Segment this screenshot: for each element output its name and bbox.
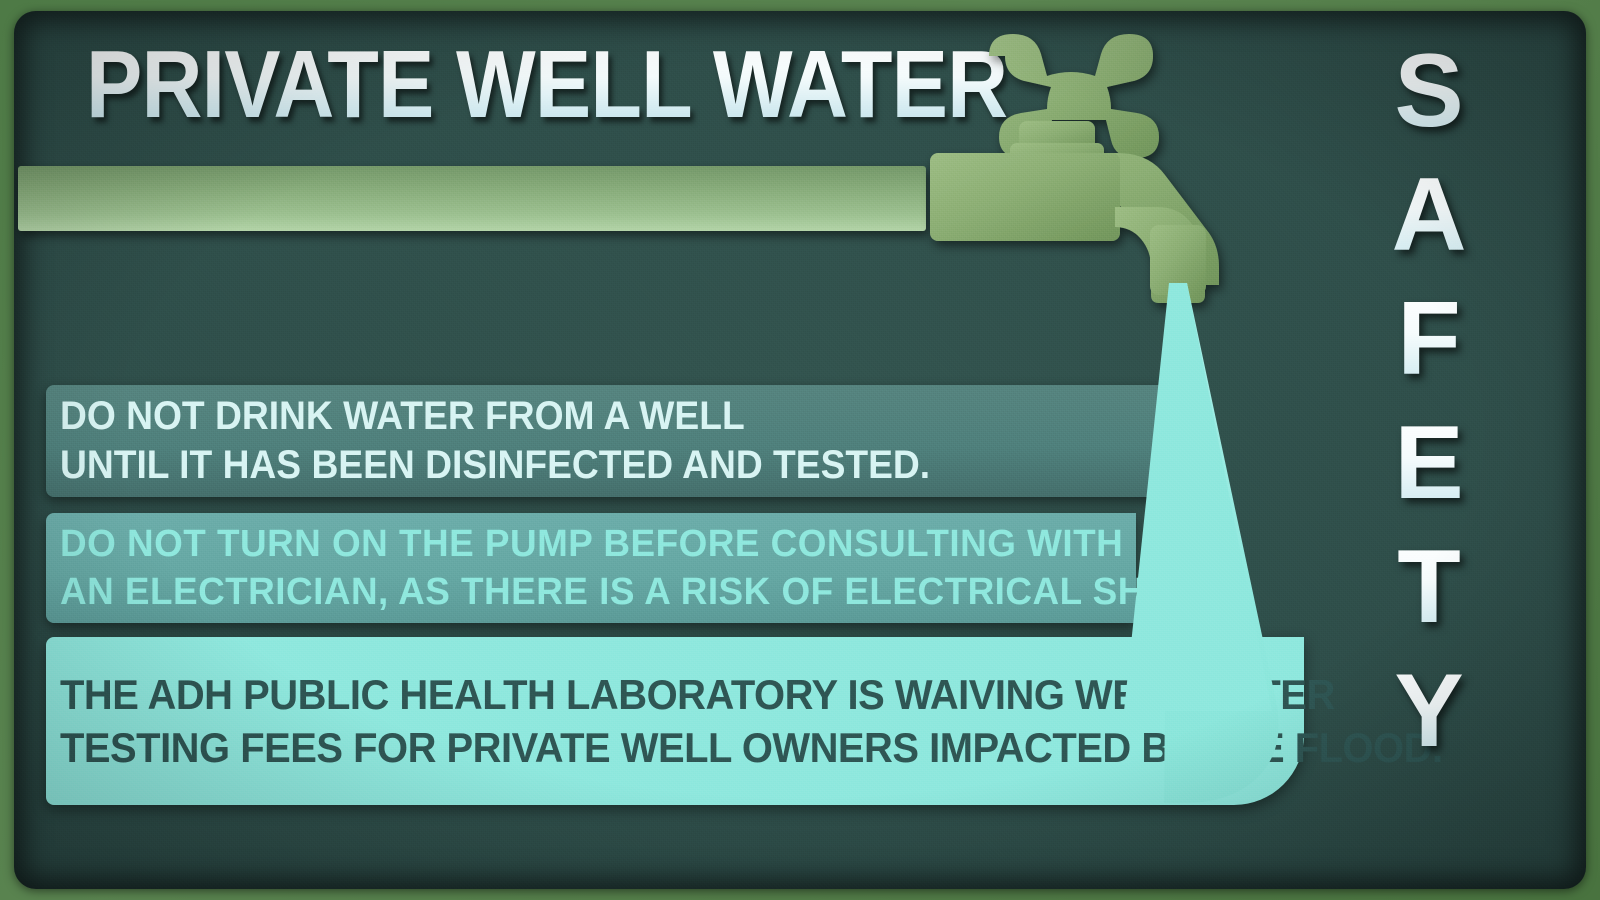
message-band-adh-lab-fee-waiver: THE ADH PUBLIC HEALTH LABORATORY IS WAIV…	[46, 637, 1304, 805]
message-band-do-not-drink: DO NOT DRINK WATER FROM A WELL UNTIL IT …	[46, 385, 1171, 497]
safety-letter-a: A	[1391, 153, 1466, 277]
message-line: DO NOT TURN ON THE PUMP BEFORE CONSULTIN…	[60, 520, 1104, 568]
safety-letter-t: T	[1397, 525, 1461, 649]
safety-letter-f: F	[1397, 277, 1461, 401]
side-word-safety: S A F E T Y	[1354, 29, 1504, 773]
message-line: TESTING FEES FOR PRIVATE WELL OWNERS IMP…	[60, 721, 1242, 774]
page-title: PRIVATE WELL WATER	[86, 33, 1007, 137]
message-line: DO NOT DRINK WATER FROM A WELL	[60, 392, 1093, 441]
message-line: UNTIL IT HAS BEEN DISINFECTED AND TESTED…	[60, 441, 1093, 490]
safety-letter-y: Y	[1394, 649, 1463, 773]
pipe-bar	[18, 166, 926, 231]
poster-root: PRIVATE WELL WATER	[0, 0, 1600, 900]
message-line: THE ADH PUBLIC HEALTH LABORATORY IS WAIV…	[60, 668, 1242, 721]
poster-panel: PRIVATE WELL WATER	[14, 11, 1586, 889]
safety-letter-e: E	[1394, 401, 1463, 525]
safety-letter-s: S	[1394, 29, 1463, 153]
message-line: AN ELECTRICIAN, AS THERE IS A RISK OF EL…	[60, 568, 1104, 616]
message-band-do-not-turn-on-pump: DO NOT TURN ON THE PUMP BEFORE CONSULTIN…	[46, 513, 1136, 623]
